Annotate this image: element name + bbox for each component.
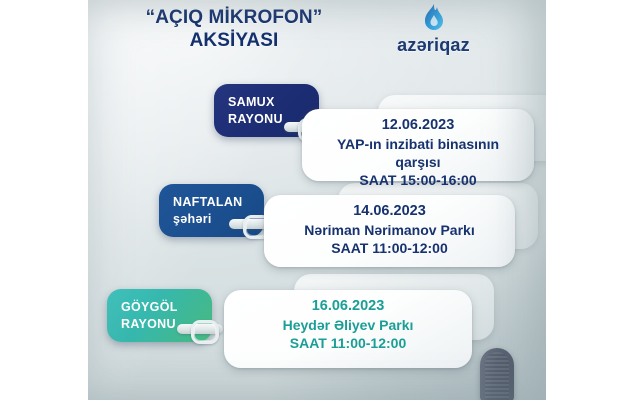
- event-card-goygol: 16.06.2023 Heydər Əliyev Parkı SAAT 11:0…: [224, 290, 472, 368]
- event-date: 14.06.2023: [274, 202, 505, 221]
- event-place-line1: Heydər Əliyev Parkı: [234, 316, 462, 334]
- event-place-line1: Nəriman Nərimanov Parkı: [274, 221, 505, 239]
- azeriqaz-wordmark: azəriqaz: [371, 36, 496, 55]
- event-time: SAAT 15:00-16:00: [312, 171, 524, 189]
- region-tag-line1: NAFTALAN: [173, 194, 252, 211]
- event-time: SAAT 11:00-12:00: [234, 334, 462, 352]
- event-card-naftalan: 14.06.2023 Nəriman Nərimanov Parkı SAAT …: [264, 195, 515, 267]
- chain-ring: [191, 320, 219, 344]
- poster-title-line1: “AÇIQ MİKROFON”: [146, 7, 323, 28]
- flame-icon: [421, 4, 447, 34]
- microphone-grill: [485, 352, 509, 400]
- screenshot-root: “AÇIQ MİKROFON” AKSİYASI azəriqaz: [0, 0, 637, 400]
- event-place-line1: YAP-ın inzibati binasının: [312, 135, 524, 153]
- poster-title-line2: AKSİYASI: [104, 29, 364, 52]
- event-place-line2: qarşısı: [312, 153, 524, 171]
- event-date: 16.06.2023: [234, 297, 462, 316]
- region-tag-line1: SAMUX: [228, 94, 307, 111]
- event-card-samux: 12.06.2023 YAP-ın inzibati binasının qar…: [302, 109, 534, 181]
- chain-link-icon: [177, 320, 223, 338]
- azeriqaz-logo: azəriqaz: [371, 4, 496, 55]
- event-date: 12.06.2023: [312, 116, 524, 135]
- poster-title: “AÇIQ MİKROFON” AKSİYASI: [104, 6, 364, 52]
- event-time: SAAT 11:00-12:00: [274, 239, 505, 257]
- event-poster: “AÇIQ MİKROFON” AKSİYASI azəriqaz: [88, 0, 546, 400]
- microphone-icon: [480, 348, 514, 400]
- region-tag-line1: GÖYGÖL: [121, 299, 200, 316]
